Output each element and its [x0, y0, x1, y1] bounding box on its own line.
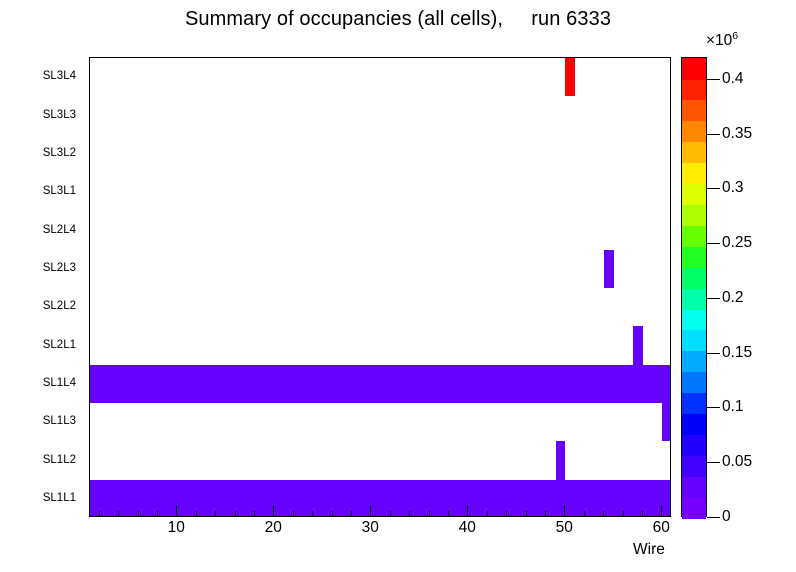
x-tick-minor: [448, 511, 449, 517]
heatmap-cell-sl1l3-w60[interactable]: [662, 403, 670, 441]
x-tick-minor: [429, 511, 430, 517]
colorbar[interactable]: [681, 57, 707, 517]
colorbar-segment: [682, 372, 706, 394]
x-tick-minor: [603, 511, 604, 517]
colorbar-label-0-3: 0.3: [722, 179, 744, 197]
x-axis-label-60: 60: [653, 519, 670, 537]
colorbar-segment: [682, 497, 706, 519]
plot-frame: [89, 57, 671, 517]
colorbar-tick: [707, 517, 720, 518]
colorbar-segment: [682, 351, 706, 373]
colorbar-label-0-25: 0.25: [722, 234, 752, 252]
colorbar-tick: [707, 243, 720, 244]
colorbar-segment: [682, 183, 706, 205]
y-axis-label-sl3l3: SL3L3: [43, 109, 76, 121]
colorbar-segment: [682, 163, 706, 185]
colorbar-label-0-35: 0.35: [722, 125, 752, 143]
colorbar-segment: [682, 434, 706, 456]
x-tick-minor: [99, 511, 100, 517]
colorbar-label-0-4: 0.4: [722, 70, 744, 88]
y-axis-label-sl3l2: SL3L2: [43, 147, 76, 159]
colorbar-segment: [682, 225, 706, 247]
colorbar-label-0-1: 0.1: [722, 398, 744, 416]
page-title: Summary of occupancies (all cells), run …: [0, 8, 796, 31]
colorbar-tick: [707, 134, 720, 135]
x-tick-minor: [351, 511, 352, 517]
y-axis-label-sl2l2: SL2L2: [43, 300, 76, 312]
colorbar-segment: [682, 288, 706, 310]
heatmap-cell-sl2l1-w57[interactable]: [633, 326, 643, 364]
colorbar-segment: [682, 455, 706, 477]
colorbar-tick: [707, 298, 720, 299]
x-tick-minor: [118, 511, 119, 517]
colorbar-label-0: 0: [722, 508, 731, 526]
y-axis-label-sl1l2: SL1L2: [43, 454, 76, 466]
x-tick-minor: [409, 511, 410, 517]
colorbar-exponent: ×106: [706, 30, 738, 50]
x-tick-minor: [526, 511, 527, 517]
x-tick-20: [273, 505, 274, 517]
heatmap-cell-sl3l4-w50[interactable]: [565, 58, 575, 96]
y-axis-label-sl3l1: SL3L1: [43, 185, 76, 197]
x-tick-minor: [312, 511, 313, 517]
x-axis-title: Wire: [633, 541, 665, 559]
x-tick-minor: [584, 511, 585, 517]
colorbar-segment: [682, 330, 706, 352]
colorbar-segment: [682, 121, 706, 143]
heatmap-cell-sl1l4-w1[interactable]: [90, 365, 624, 403]
colorbar-segment: [682, 476, 706, 498]
root-canvas: Summary of occupancies (all cells), run …: [0, 0, 796, 572]
x-tick-40: [467, 505, 468, 517]
colorbar-segment: [682, 267, 706, 289]
y-axis-label-sl2l4: SL2L4: [43, 224, 76, 236]
y-axis-labels: SL1L1SL1L2SL1L3SL1L4SL2L1SL2L2SL2L3SL2L4…: [0, 57, 89, 517]
x-tick-minor: [254, 511, 255, 517]
x-tick-30: [370, 505, 371, 517]
x-axis-label-50: 50: [556, 519, 573, 537]
x-tick-minor: [196, 511, 197, 517]
x-tick-60: [661, 505, 662, 517]
x-tick-minor: [235, 511, 236, 517]
x-axis-label-40: 40: [459, 519, 476, 537]
colorbar-segment: [682, 309, 706, 331]
colorbar-label-0-15: 0.15: [722, 344, 752, 362]
x-tick-minor: [332, 511, 333, 517]
heatmap-cells[interactable]: [90, 58, 670, 516]
x-tick-minor: [293, 511, 294, 517]
x-tick-50: [564, 505, 565, 517]
colorbar-segment: [682, 79, 706, 101]
heatmap-cell-sl2l3-w54[interactable]: [604, 250, 614, 288]
heatmap-cell-sl1l4-w56[interactable]: [624, 365, 671, 403]
x-tick-10: [176, 505, 177, 517]
x-tick-minor: [623, 511, 624, 517]
y-axis-label-sl2l1: SL2L1: [43, 339, 76, 351]
colorbar-segment: [682, 142, 706, 164]
colorbar-segment: [682, 100, 706, 122]
y-axis-label-sl3l4: SL3L4: [43, 70, 76, 82]
heatmap-cell-sl1l2-w49[interactable]: [556, 441, 566, 479]
colorbar-tick: [707, 407, 720, 408]
x-tick-minor: [487, 511, 488, 517]
x-axis-label-20: 20: [265, 519, 282, 537]
y-axis-label-sl1l1: SL1L1: [43, 492, 76, 504]
colorbar-tick: [707, 353, 720, 354]
x-tick-minor: [157, 511, 158, 517]
x-axis-label-10: 10: [168, 519, 185, 537]
y-axis-label-sl1l3: SL1L3: [43, 415, 76, 427]
x-tick-minor: [506, 511, 507, 517]
colorbar-segment: [682, 58, 706, 80]
x-tick-minor: [642, 511, 643, 517]
colorbar-segment: [682, 393, 706, 415]
colorbar-segment: [682, 413, 706, 435]
colorbar-exponent-base: ×10: [706, 32, 732, 49]
y-axis-label-sl1l4: SL1L4: [43, 377, 76, 389]
x-tick-minor: [390, 511, 391, 517]
colorbar-tick: [707, 79, 720, 80]
colorbar-label-0-2: 0.2: [722, 289, 744, 307]
colorbar-exponent-power: 6: [732, 30, 738, 42]
x-tick-minor: [545, 511, 546, 517]
colorbar-tick: [707, 462, 720, 463]
y-axis-label-sl2l3: SL2L3: [43, 262, 76, 274]
colorbar-label-0-05: 0.05: [722, 453, 752, 471]
x-tick-minor: [215, 511, 216, 517]
colorbar-segment: [682, 204, 706, 226]
x-axis-label-30: 30: [362, 519, 379, 537]
colorbar-segment: [682, 246, 706, 268]
x-tick-minor: [138, 511, 139, 517]
colorbar-tick: [707, 188, 720, 189]
